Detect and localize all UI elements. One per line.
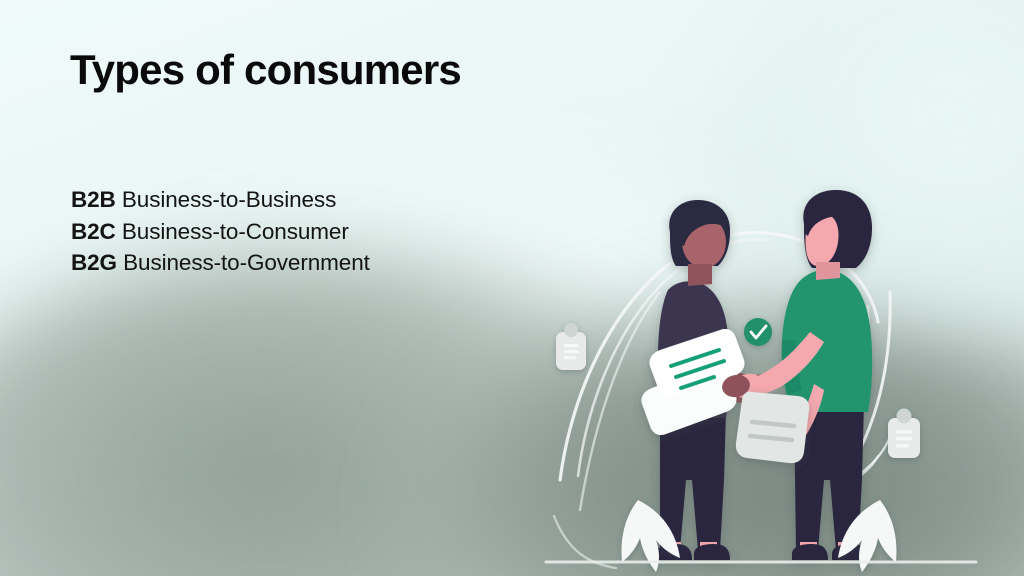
document-grey-lines	[736, 392, 809, 463]
list-item-label: Business-to-Consumer	[122, 219, 349, 244]
handshake-illustration	[520, 180, 1000, 576]
presentation-slide: Types of consumers B2B Business-to-Busin…	[0, 0, 1024, 576]
list-item-code: B2B	[71, 187, 116, 212]
list-item-label: Business-to-Business	[122, 187, 336, 212]
clipboard-icon-right	[888, 409, 920, 459]
clipboard-icon-left	[556, 323, 586, 370]
check-badge-icon	[744, 318, 772, 346]
list-item: B2B Business-to-Business	[71, 184, 370, 216]
consumer-types-list: B2B Business-to-Business B2C Business-to…	[71, 184, 370, 279]
list-item-code: B2G	[71, 250, 117, 275]
list-item: B2C Business-to-Consumer	[71, 216, 370, 248]
list-item: B2G Business-to-Government	[71, 247, 370, 279]
page-title: Types of consumers	[70, 47, 461, 93]
list-item-code: B2C	[71, 219, 116, 244]
list-item-label: Business-to-Government	[123, 250, 370, 275]
